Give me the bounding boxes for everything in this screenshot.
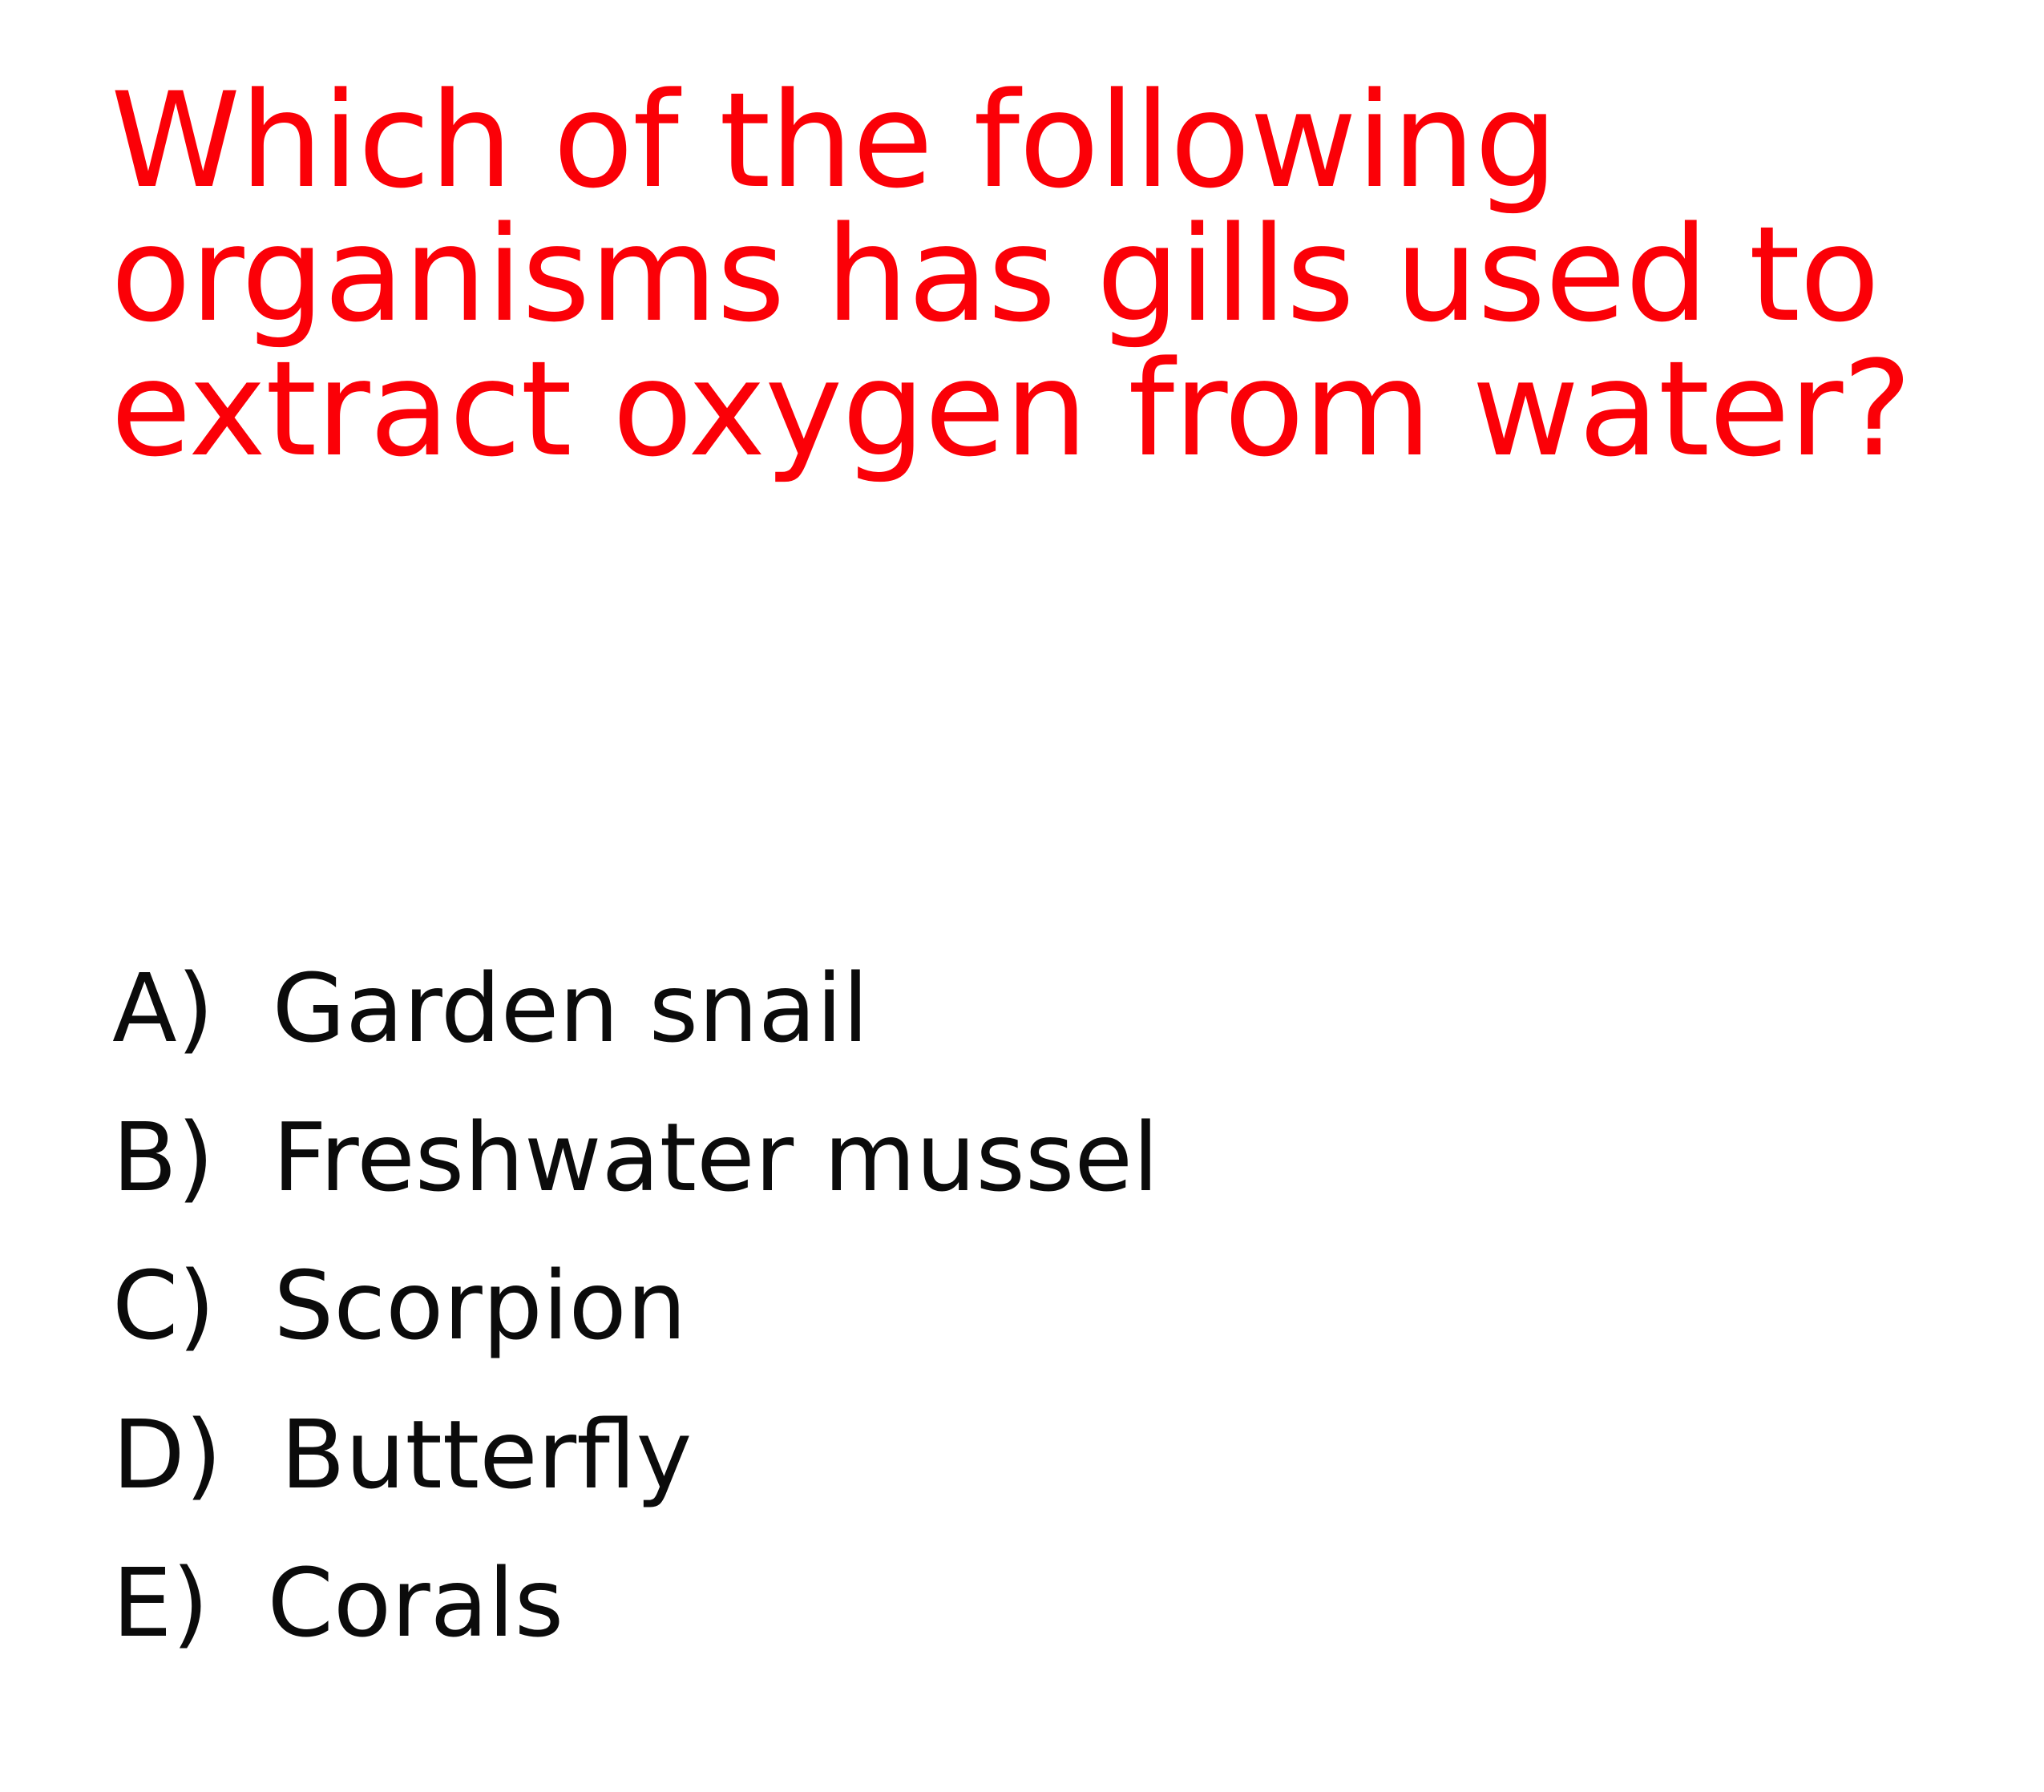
question-block: Which of the following organisms has gil…: [111, 74, 1922, 476]
option-letter-c: C): [112, 1250, 245, 1361]
option-text-e: Corals: [268, 1548, 564, 1658]
option-letter-b: B): [112, 1102, 244, 1213]
answer-option-e[interactable]: E) Corals: [112, 1536, 1940, 1671]
question-slide: Which of the following organisms has gil…: [0, 0, 2044, 1792]
answer-option-a[interactable]: A) Garden snail: [112, 942, 1940, 1076]
option-text-b: Freshwater mussel: [273, 1102, 1159, 1213]
option-letter-d: D): [112, 1399, 252, 1510]
answer-option-c[interactable]: C) Scorpion: [112, 1239, 1940, 1374]
answer-option-d[interactable]: D) Butterfly: [112, 1388, 1940, 1523]
answer-option-b[interactable]: B) Freshwater mussel: [112, 1091, 1940, 1225]
option-text-d: Butterfly: [281, 1399, 693, 1510]
option-letter-a: A): [112, 953, 244, 1063]
option-letter-e: E): [112, 1548, 239, 1658]
question-text: Which of the following organisms has gil…: [111, 74, 1922, 476]
option-text-a: Garden snail: [273, 953, 869, 1063]
answer-options-list: A) Garden snail B) Freshwater mussel C) …: [112, 942, 1940, 1671]
option-text-c: Scorpion: [273, 1250, 686, 1361]
